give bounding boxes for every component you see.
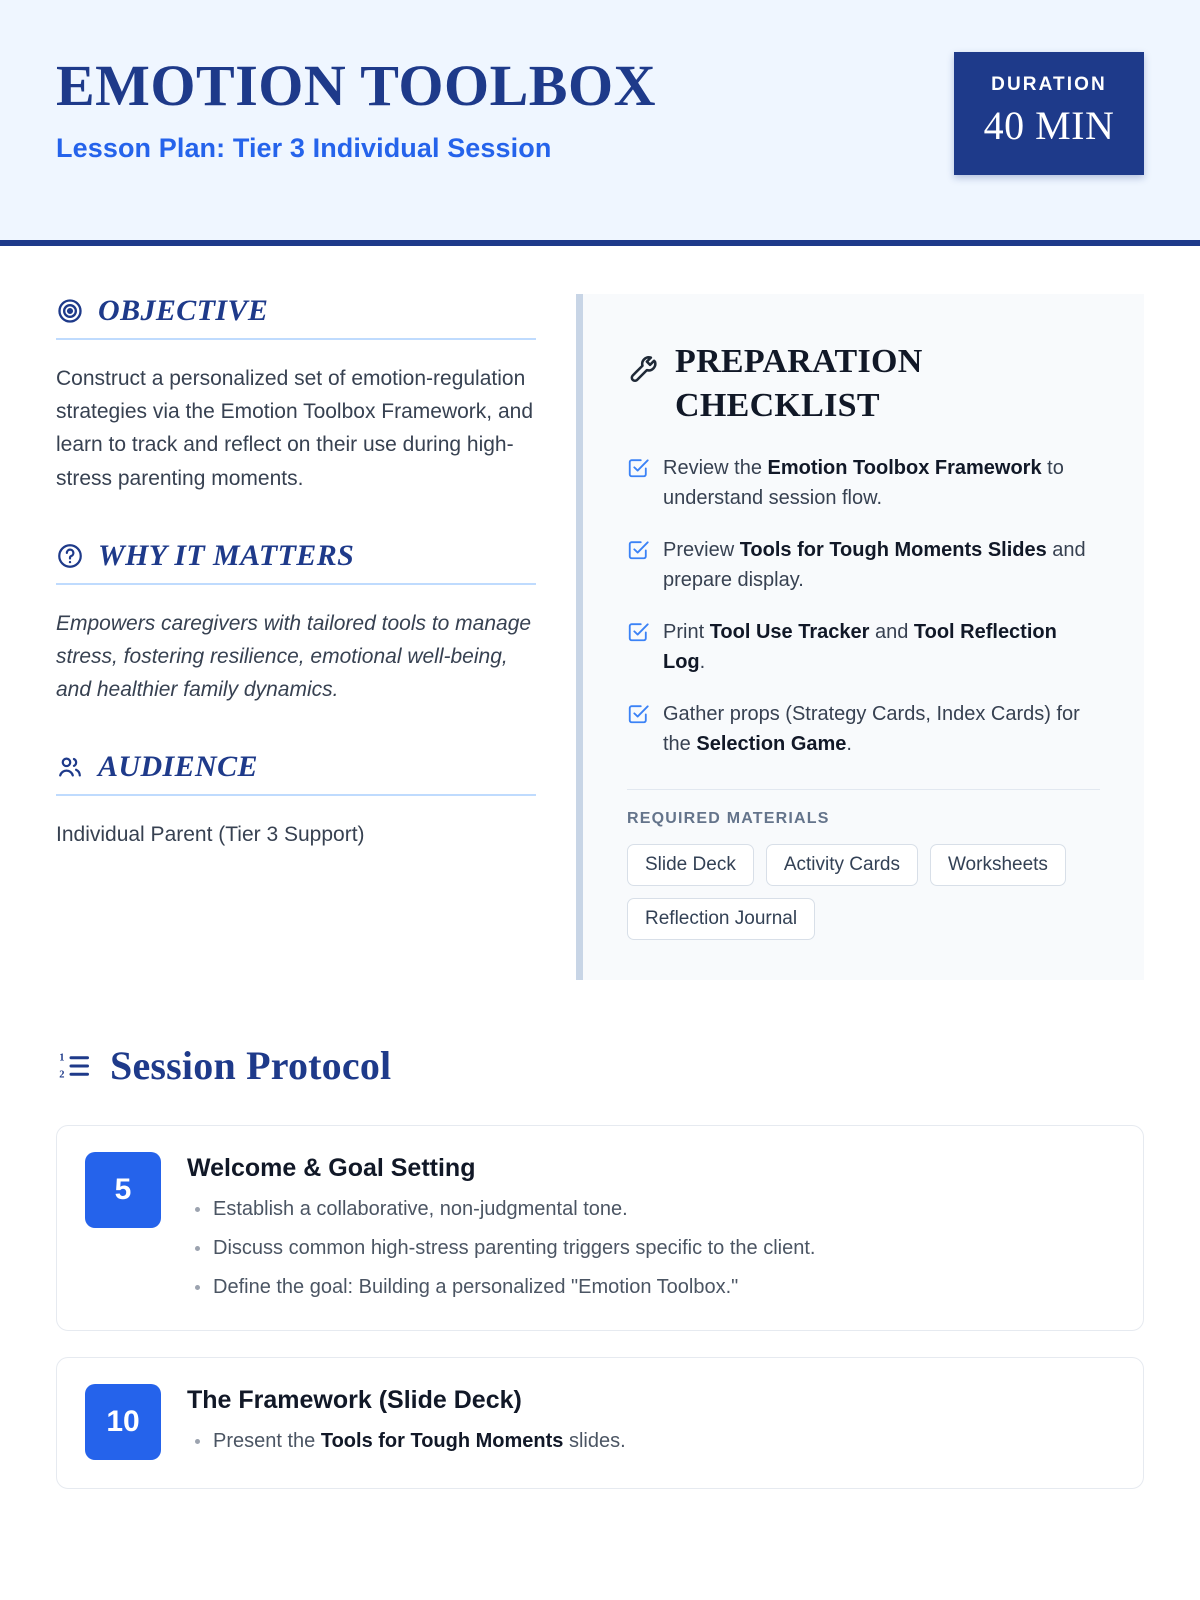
question-circle-icon — [56, 542, 84, 570]
protocol-step-title: The Framework (Slide Deck) — [187, 1386, 1113, 1415]
material-tag[interactable]: Worksheets — [930, 844, 1066, 886]
header-title-block: EMOTION TOOLBOX Lesson Plan: Tier 3 Indi… — [56, 52, 656, 164]
checklist-item-text: Preview Tools for Tough Moments Slides a… — [663, 535, 1100, 595]
panel-divider — [627, 789, 1100, 790]
checklist-item[interactable]: Review the Emotion Toolbox Framework to … — [627, 453, 1100, 513]
emphasis-text: Tools for Tough Moments — [321, 1430, 564, 1452]
protocol-step-card: 10The Framework (Slide Deck)Present the … — [56, 1357, 1144, 1489]
session-protocol-section: 1 2 Session Protocol 5Welcome & Goal Set… — [56, 980, 1144, 1489]
checklist-item[interactable]: Print Tool Use Tracker and Tool Reflecti… — [627, 617, 1100, 677]
protocol-step-bullet: Establish a collaborative, non-judgmenta… — [187, 1195, 1113, 1224]
protocol-step-title: Welcome & Goal Setting — [187, 1154, 1113, 1183]
checklist-item[interactable]: Preview Tools for Tough Moments Slides a… — [627, 535, 1100, 595]
emphasis-text: Tools for Tough Moments Slides — [740, 539, 1047, 561]
protocol-step-bullet: Present the Tools for Tough Moments slid… — [187, 1427, 1113, 1456]
page-title: EMOTION TOOLBOX — [56, 56, 656, 117]
duration-badge: DURATION 40 MIN — [954, 52, 1144, 175]
step-minutes-badge: 10 — [85, 1384, 161, 1460]
audience-heading: AUDIENCE — [56, 750, 536, 796]
emphasis-text: Tool Use Tracker — [710, 621, 870, 643]
protocol-step-bullets: Present the Tools for Tough Moments slid… — [187, 1427, 1113, 1456]
preparation-title: PREPARATION CHECKLIST — [675, 340, 985, 427]
required-materials-tags: Slide DeckActivity CardsWorksheetsReflec… — [627, 844, 1100, 940]
material-tag[interactable]: Activity Cards — [766, 844, 918, 886]
objective-title: OBJECTIVE — [98, 294, 268, 328]
required-materials-label: REQUIRED MATERIALS — [627, 810, 1100, 828]
session-protocol-steps: 5Welcome & Goal SettingEstablish a colla… — [56, 1125, 1144, 1489]
why-it-matters-title: WHY IT MATTERS — [98, 539, 354, 573]
svg-text:1: 1 — [59, 1052, 64, 1063]
why-it-matters-section: WHY IT MATTERS Empowers caregivers with … — [56, 539, 536, 707]
checkbox-checked-icon[interactable] — [627, 699, 649, 759]
protocol-step-card: 5Welcome & Goal SettingEstablish a colla… — [56, 1125, 1144, 1331]
objective-body: Construct a personalized set of emotion-… — [56, 362, 536, 495]
preparation-checklist: Review the Emotion Toolbox Framework to … — [627, 453, 1100, 759]
page-content: OBJECTIVE Construct a personalized set o… — [0, 246, 1200, 1489]
wrench-icon — [627, 340, 659, 391]
audience-title: AUDIENCE — [98, 750, 258, 784]
duration-label: DURATION — [968, 74, 1130, 96]
checkbox-checked-icon[interactable] — [627, 617, 649, 677]
duration-value: 40 MIN — [968, 102, 1130, 149]
protocol-step-bullet: Define the goal: Building a personalized… — [187, 1273, 1113, 1302]
target-icon — [56, 297, 84, 325]
protocol-step-bullets: Establish a collaborative, non-judgmenta… — [187, 1195, 1113, 1302]
audience-section: AUDIENCE Individual Parent (Tier 3 Suppo… — [56, 750, 536, 851]
page-header: EMOTION TOOLBOX Lesson Plan: Tier 3 Indi… — [0, 0, 1200, 246]
checkbox-checked-icon[interactable] — [627, 535, 649, 595]
preparation-heading: PREPARATION CHECKLIST — [627, 340, 1100, 427]
svg-text:2: 2 — [59, 1069, 64, 1080]
overview-columns: OBJECTIVE Construct a personalized set o… — [56, 246, 1144, 980]
overview-left-column: OBJECTIVE Construct a personalized set o… — [56, 294, 576, 980]
session-protocol-heading: 1 2 Session Protocol — [56, 1042, 1144, 1089]
emphasis-text: Emotion Toolbox Framework — [768, 457, 1042, 479]
page-subtitle: Lesson Plan: Tier 3 Individual Session — [56, 133, 656, 164]
checklist-item[interactable]: Gather props (Strategy Cards, Index Card… — [627, 699, 1100, 759]
users-icon — [56, 753, 84, 781]
protocol-step-bullet: Discuss common high-stress parenting tri… — [187, 1234, 1113, 1263]
why-it-matters-heading: WHY IT MATTERS — [56, 539, 536, 585]
objective-section: OBJECTIVE Construct a personalized set o… — [56, 294, 536, 495]
session-protocol-title: Session Protocol — [110, 1042, 391, 1089]
checkbox-checked-icon[interactable] — [627, 453, 649, 513]
checklist-item-text: Review the Emotion Toolbox Framework to … — [663, 453, 1100, 513]
emphasis-text: Selection Game — [696, 733, 846, 755]
why-it-matters-body: Empowers caregivers with tailored tools … — [56, 607, 536, 707]
step-minutes-badge: 5 — [85, 1152, 161, 1228]
protocol-step-body: The Framework (Slide Deck)Present the To… — [187, 1384, 1113, 1460]
preparation-checklist-panel: PREPARATION CHECKLIST Review the Emotion… — [576, 294, 1144, 980]
checklist-item-text: Print Tool Use Tracker and Tool Reflecti… — [663, 617, 1100, 677]
ordered-list-icon: 1 2 — [56, 1048, 92, 1084]
material-tag[interactable]: Slide Deck — [627, 844, 754, 886]
material-tag[interactable]: Reflection Journal — [627, 898, 815, 940]
checklist-item-text: Gather props (Strategy Cards, Index Card… — [663, 699, 1100, 759]
audience-body: Individual Parent (Tier 3 Support) — [56, 818, 536, 851]
objective-heading: OBJECTIVE — [56, 294, 536, 340]
protocol-step-body: Welcome & Goal SettingEstablish a collab… — [187, 1152, 1113, 1302]
